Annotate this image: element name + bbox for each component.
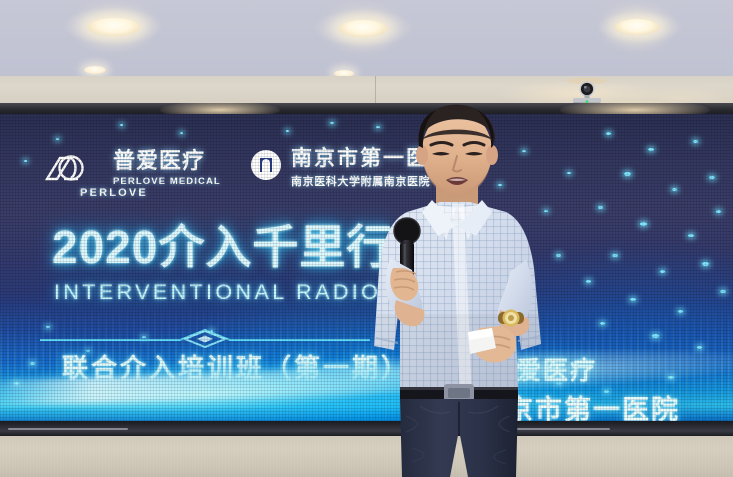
perlove-en-label: PERLOVE MEDICAL xyxy=(113,176,221,187)
ceiling xyxy=(0,0,733,80)
perlove-cn-label: 普爱医疗 xyxy=(113,150,221,172)
hospital-mark-icon xyxy=(248,148,284,184)
ceiling-downlight-icon xyxy=(615,19,659,35)
perlove-mark-icon: PERLOVE xyxy=(44,153,91,185)
ceiling-downlight-icon xyxy=(339,20,387,37)
ceiling-downlight-icon xyxy=(88,18,140,36)
perlove-wordmark: PERLOVE xyxy=(80,187,148,199)
banner-subtitle-cn: 联合介入培训班（第一期） xyxy=(62,348,410,385)
ceiling-downlight-icon xyxy=(84,66,106,74)
speaker-person xyxy=(360,100,560,477)
banner-divider xyxy=(40,327,370,349)
banner-title-cn: 2020介入千里行 xyxy=(52,224,393,270)
photo-scene: PERLOVE 普爱医疗 PERLOVE MEDICAL xyxy=(0,0,733,477)
perlove-logo: PERLOVE 普爱医疗 PERLOVE MEDICAL xyxy=(44,150,221,187)
